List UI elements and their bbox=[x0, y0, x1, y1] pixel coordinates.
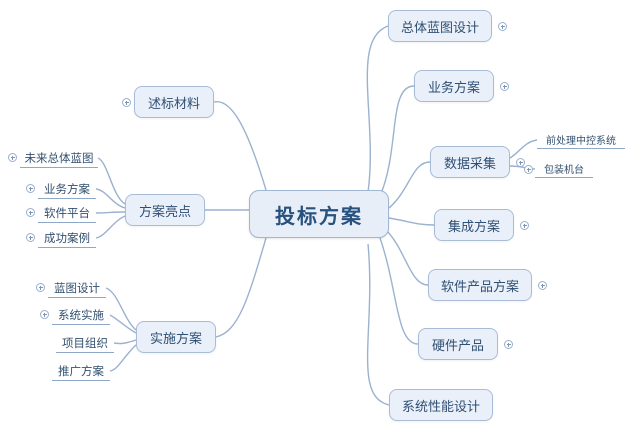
node-weilaizongtilantu[interactable]: 未来总体蓝图 bbox=[20, 148, 98, 168]
node-label: 系统实施 bbox=[58, 307, 104, 323]
node-label: 系统性能设计 bbox=[402, 396, 480, 415]
node-shujucaiji[interactable]: 数据采集 bbox=[430, 146, 510, 178]
node-yewufangan-right[interactable]: 业务方案 bbox=[414, 70, 494, 102]
node-yingjianchanpin[interactable]: 硬件产品 bbox=[418, 328, 498, 360]
node-fangangliangdian[interactable]: 方案亮点 bbox=[125, 194, 205, 226]
node-label: 推广方案 bbox=[58, 363, 104, 379]
expand-plus-icon[interactable] bbox=[516, 158, 525, 167]
mindmap-canvas: 投标方案 总体蓝图设计 业务方案 数据采集 集成方案 软件产品方案 硬件产品 系… bbox=[0, 0, 640, 428]
node-label: 包装机台 bbox=[544, 161, 584, 176]
node-shishifangan[interactable]: 实施方案 bbox=[136, 321, 216, 353]
node-chenggonganli[interactable]: 成功案例 bbox=[38, 228, 96, 248]
node-label: 前处理中控系统 bbox=[546, 132, 616, 147]
expand-plus-icon[interactable] bbox=[122, 98, 131, 107]
node-label: 业务方案 bbox=[44, 181, 90, 197]
central-node-label: 投标方案 bbox=[275, 200, 363, 229]
expand-plus-icon[interactable] bbox=[36, 283, 45, 292]
node-label: 方案亮点 bbox=[139, 201, 191, 220]
node-ruanjianpingtai[interactable]: 软件平台 bbox=[38, 203, 96, 223]
node-label: 数据采集 bbox=[444, 153, 496, 172]
node-label: 软件平台 bbox=[44, 205, 90, 221]
expand-plus-icon[interactable] bbox=[26, 233, 35, 242]
node-yewufangan-left[interactable]: 业务方案 bbox=[38, 179, 96, 199]
node-label: 蓝图设计 bbox=[54, 280, 100, 296]
expand-plus-icon[interactable] bbox=[520, 221, 529, 230]
node-label: 述标材料 bbox=[148, 93, 200, 112]
node-label: 未来总体蓝图 bbox=[25, 150, 94, 166]
node-xitongshishi[interactable]: 系统实施 bbox=[52, 305, 110, 325]
expand-plus-icon[interactable] bbox=[26, 184, 35, 193]
node-jichengfangan[interactable]: 集成方案 bbox=[434, 209, 514, 241]
expand-plus-icon[interactable] bbox=[504, 340, 513, 349]
expand-plus-icon[interactable] bbox=[524, 165, 533, 174]
expand-plus-icon[interactable] bbox=[40, 310, 49, 319]
node-baozhuangjitai[interactable]: 包装机台 bbox=[535, 160, 593, 178]
node-tuiguangfangan[interactable]: 推广方案 bbox=[52, 361, 110, 381]
expand-plus-icon[interactable] bbox=[8, 153, 17, 162]
node-label: 实施方案 bbox=[150, 328, 202, 347]
node-xitongxingnengsheji[interactable]: 系统性能设计 bbox=[389, 389, 493, 421]
expand-plus-icon[interactable] bbox=[500, 82, 509, 91]
node-zongtilantudesheji[interactable]: 总体蓝图设计 bbox=[388, 10, 492, 42]
expand-plus-icon[interactable] bbox=[498, 22, 507, 31]
node-label: 硬件产品 bbox=[432, 335, 484, 354]
central-node[interactable]: 投标方案 bbox=[249, 190, 389, 238]
expand-plus-icon[interactable] bbox=[538, 281, 547, 290]
expand-plus-icon[interactable] bbox=[26, 208, 35, 217]
node-xiangmuzuzhi[interactable]: 项目组织 bbox=[56, 333, 114, 353]
node-shubiaocailiao[interactable]: 述标材料 bbox=[134, 86, 214, 118]
node-label: 总体蓝图设计 bbox=[401, 17, 479, 36]
node-label: 成功案例 bbox=[44, 230, 90, 246]
node-label: 软件产品方案 bbox=[441, 276, 519, 295]
node-label: 业务方案 bbox=[428, 77, 480, 96]
node-ruanjianchanpinfangan[interactable]: 软件产品方案 bbox=[428, 269, 532, 301]
node-lantusheji[interactable]: 蓝图设计 bbox=[48, 278, 106, 298]
node-qianchulizhongkongxitong[interactable]: 前处理中控系统 bbox=[537, 131, 625, 149]
node-label: 项目组织 bbox=[62, 335, 108, 351]
node-label: 集成方案 bbox=[448, 216, 500, 235]
